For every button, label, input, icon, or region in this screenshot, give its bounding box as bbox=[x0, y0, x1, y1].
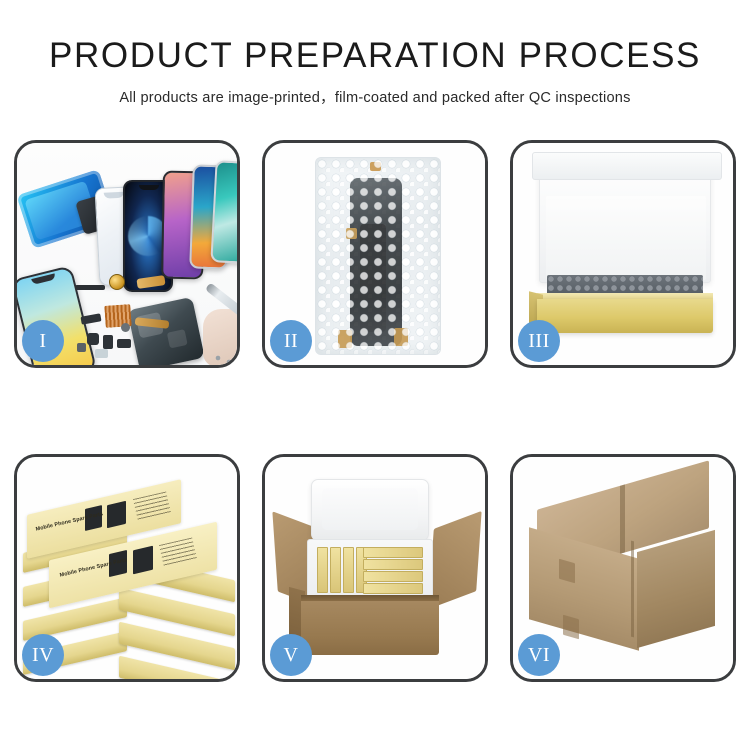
step-badge-5: V bbox=[270, 634, 312, 676]
carton-edge-icon bbox=[631, 541, 634, 638]
adhesive-tab-icon bbox=[346, 228, 357, 239]
foam-sheet-icon bbox=[539, 157, 711, 283]
bubble-wrap-bag-icon bbox=[315, 157, 441, 355]
carton-side-icon bbox=[637, 530, 715, 648]
adhesive-tab-icon bbox=[394, 328, 408, 346]
step-card-4: Mobile Phone Spare Parts Mobile Phone Sp… bbox=[14, 454, 240, 682]
page-subtitle: All products are image-printed，film-coat… bbox=[0, 86, 750, 107]
step-card-6: VI bbox=[510, 454, 736, 682]
phone-screen-teal-icon bbox=[210, 160, 237, 264]
inner-boxes-group bbox=[317, 547, 423, 593]
yellow-box-icon bbox=[317, 547, 328, 593]
foam-lid-icon bbox=[311, 479, 429, 541]
step-card-5: V bbox=[262, 454, 488, 682]
phone-back-housing-icon bbox=[127, 297, 204, 365]
page-title: PRODUCT PREPARATION PROCESS bbox=[0, 38, 750, 75]
spare-part-icon bbox=[117, 339, 131, 348]
step-card-3: III bbox=[510, 140, 736, 368]
yellow-box-icon bbox=[363, 559, 423, 570]
yellow-box-front-icon bbox=[537, 299, 713, 333]
yellow-box-icon bbox=[343, 547, 354, 593]
adhesive-tab-icon bbox=[370, 162, 381, 171]
spare-part-icon bbox=[87, 333, 99, 345]
step-card-2: II bbox=[262, 140, 488, 368]
step-badge-1: I bbox=[22, 320, 64, 362]
process-steps-grid: I II bbox=[14, 140, 736, 688]
box-window-icon bbox=[107, 501, 126, 528]
wrapped-screen-icon bbox=[350, 178, 402, 346]
earpiece-strip-icon bbox=[75, 285, 105, 290]
infographic-page: PRODUCT PREPARATION PROCESS All products… bbox=[0, 0, 750, 750]
yellow-box-icon bbox=[363, 547, 423, 558]
step-badge-4: IV bbox=[22, 634, 64, 676]
spare-part-icon bbox=[95, 349, 108, 358]
carton-front-icon bbox=[301, 595, 439, 655]
adhesive-tab-icon bbox=[338, 330, 352, 348]
spare-part-icon bbox=[77, 343, 86, 352]
header: PRODUCT PREPARATION PROCESS All products… bbox=[0, 0, 750, 107]
yellow-box-icon bbox=[363, 571, 423, 582]
camera-module-icon bbox=[121, 323, 130, 332]
step-badge-2: II bbox=[270, 320, 312, 362]
carton-tape-icon bbox=[559, 559, 575, 584]
box-window-icon bbox=[133, 546, 153, 575]
spare-part-icon bbox=[103, 335, 113, 349]
yellow-box-icon bbox=[330, 547, 341, 593]
yellow-box-icon bbox=[363, 583, 423, 594]
step-badge-3: III bbox=[518, 320, 560, 362]
screws-icon bbox=[213, 353, 237, 365]
step-badge-6: VI bbox=[518, 634, 560, 676]
carton-tape-icon bbox=[563, 615, 579, 640]
speaker-coil-icon bbox=[109, 274, 125, 290]
step-card-1: I bbox=[14, 140, 240, 368]
